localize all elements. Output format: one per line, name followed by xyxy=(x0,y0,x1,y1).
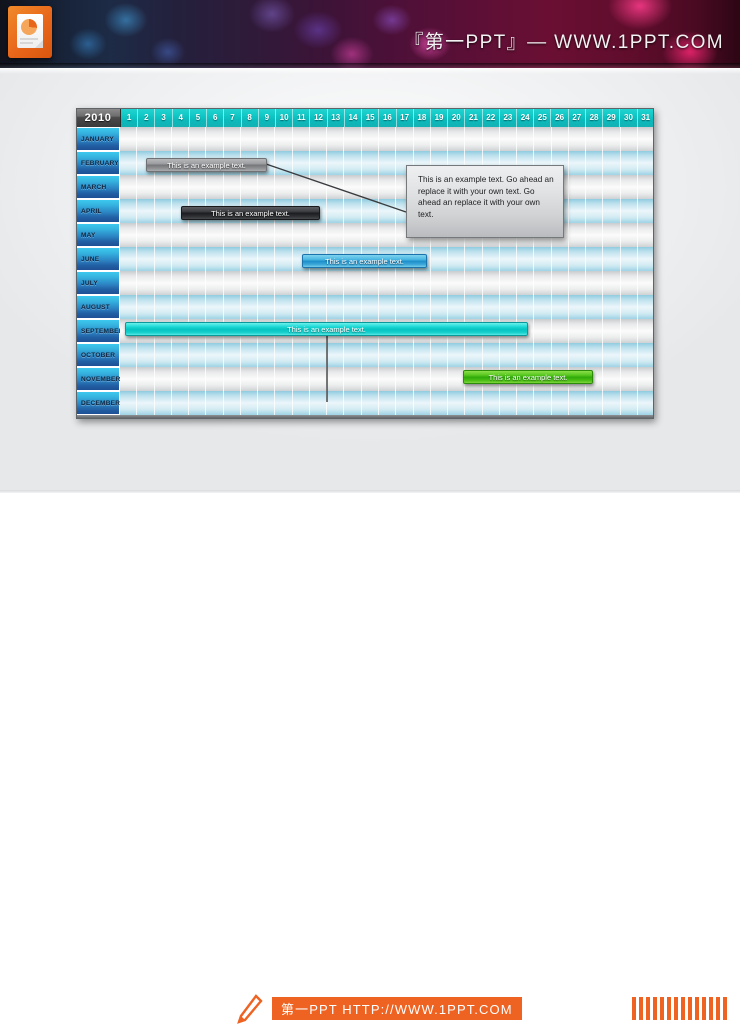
gantt-cell[interactable] xyxy=(603,367,620,391)
gantt-cell[interactable] xyxy=(172,247,189,271)
gantt-cell[interactable] xyxy=(465,295,482,319)
gantt-cell[interactable] xyxy=(603,127,620,151)
gantt-month-label[interactable]: APRIL xyxy=(76,199,120,223)
gantt-cell[interactable] xyxy=(379,175,396,199)
gantt-cell[interactable] xyxy=(638,295,654,319)
gantt-cell[interactable] xyxy=(327,271,344,295)
gantt-cell[interactable] xyxy=(396,127,413,151)
gantt-task-bar[interactable]: This is an example text. xyxy=(463,370,593,384)
gantt-cell[interactable] xyxy=(206,247,223,271)
gantt-cell[interactable] xyxy=(362,343,379,367)
gantt-cell[interactable] xyxy=(137,127,154,151)
gantt-cell[interactable] xyxy=(517,271,534,295)
gantt-cell[interactable] xyxy=(206,391,223,415)
gantt-cell[interactable] xyxy=(534,391,551,415)
gantt-month-label[interactable]: JANUARY xyxy=(76,127,120,151)
gantt-month-label[interactable]: JULY xyxy=(76,271,120,295)
gantt-cell[interactable] xyxy=(500,247,517,271)
gantt-cell[interactable] xyxy=(206,223,223,247)
gantt-cell[interactable] xyxy=(534,343,551,367)
gantt-cell[interactable] xyxy=(258,367,275,391)
gantt-cell[interactable] xyxy=(310,343,327,367)
gantt-cell[interactable] xyxy=(275,343,292,367)
gantt-cell[interactable] xyxy=(310,223,327,247)
gantt-cell[interactable] xyxy=(189,367,206,391)
gantt-cell[interactable] xyxy=(465,271,482,295)
gantt-cell[interactable] xyxy=(396,391,413,415)
gantt-cell[interactable] xyxy=(155,247,172,271)
gantt-cell[interactable] xyxy=(120,295,137,319)
gantt-cell[interactable] xyxy=(327,175,344,199)
gantt-month-label[interactable]: SEPTEMBER xyxy=(76,319,120,343)
gantt-cell[interactable] xyxy=(414,127,431,151)
gantt-cell[interactable] xyxy=(569,175,586,199)
gantt-cell[interactable] xyxy=(189,391,206,415)
gantt-cell[interactable] xyxy=(155,127,172,151)
gantt-cell[interactable] xyxy=(552,127,569,151)
gantt-month-label[interactable]: MARCH xyxy=(76,175,120,199)
gantt-cell[interactable] xyxy=(344,223,361,247)
gantt-cell[interactable] xyxy=(344,199,361,223)
gantt-month-label[interactable]: JUNE xyxy=(76,247,120,271)
gantt-cell[interactable] xyxy=(241,271,258,295)
gantt-cell[interactable] xyxy=(155,343,172,367)
gantt-cell[interactable] xyxy=(483,247,500,271)
gantt-cell[interactable] xyxy=(569,223,586,247)
gantt-cell[interactable] xyxy=(155,223,172,247)
gantt-cell[interactable] xyxy=(241,175,258,199)
gantt-cell[interactable] xyxy=(172,295,189,319)
gantt-cell[interactable] xyxy=(483,127,500,151)
gantt-cell[interactable] xyxy=(224,223,241,247)
gantt-cell[interactable] xyxy=(327,199,344,223)
gantt-cell[interactable] xyxy=(362,367,379,391)
gantt-row-grid xyxy=(120,127,654,151)
gantt-cell[interactable] xyxy=(293,151,310,175)
gantt-cell[interactable] xyxy=(137,391,154,415)
gantt-cell[interactable] xyxy=(638,271,654,295)
gantt-cell[interactable] xyxy=(189,223,206,247)
gantt-cell[interactable] xyxy=(621,151,638,175)
gantt-cell[interactable] xyxy=(344,127,361,151)
gantt-cell[interactable] xyxy=(465,343,482,367)
gantt-cell[interactable] xyxy=(448,295,465,319)
gantt-cell[interactable] xyxy=(172,223,189,247)
gantt-cell[interactable] xyxy=(465,127,482,151)
gantt-cell[interactable] xyxy=(379,343,396,367)
gantt-cell[interactable] xyxy=(638,247,654,271)
gantt-cell[interactable] xyxy=(344,367,361,391)
gantt-month-row: JANUARY xyxy=(76,127,654,151)
gantt-cell[interactable] xyxy=(621,223,638,247)
gantt-cell[interactable] xyxy=(414,295,431,319)
gantt-cell[interactable] xyxy=(310,151,327,175)
gantt-cell[interactable] xyxy=(258,247,275,271)
gantt-cell[interactable] xyxy=(448,271,465,295)
gantt-cell[interactable] xyxy=(120,271,137,295)
gantt-cell[interactable] xyxy=(206,127,223,151)
gantt-cell[interactable] xyxy=(137,367,154,391)
gantt-cell[interactable] xyxy=(206,175,223,199)
gantt-cell[interactable] xyxy=(293,391,310,415)
gantt-cell[interactable] xyxy=(552,391,569,415)
gantt-cell[interactable] xyxy=(569,295,586,319)
gantt-cell[interactable] xyxy=(206,271,223,295)
gantt-cell[interactable] xyxy=(120,175,137,199)
gantt-cell[interactable] xyxy=(552,247,569,271)
gantt-cell[interactable] xyxy=(534,295,551,319)
gantt-cell[interactable] xyxy=(310,271,327,295)
gantt-cell[interactable] xyxy=(517,247,534,271)
gantt-cell[interactable] xyxy=(189,295,206,319)
gantt-cell[interactable] xyxy=(621,367,638,391)
gantt-cell[interactable] xyxy=(534,127,551,151)
gantt-cell[interactable] xyxy=(603,295,620,319)
gantt-cell[interactable] xyxy=(362,127,379,151)
gantt-cell[interactable] xyxy=(327,391,344,415)
gantt-cell[interactable] xyxy=(603,319,620,343)
gantt-cell[interactable] xyxy=(241,367,258,391)
gantt-cell[interactable] xyxy=(586,127,603,151)
gantt-cell[interactable] xyxy=(603,391,620,415)
gantt-cell[interactable] xyxy=(362,223,379,247)
gantt-cell[interactable] xyxy=(241,247,258,271)
gantt-cell[interactable] xyxy=(344,151,361,175)
gantt-cell[interactable] xyxy=(517,295,534,319)
gantt-cell[interactable] xyxy=(621,391,638,415)
gantt-cell[interactable] xyxy=(327,343,344,367)
gantt-month-label[interactable]: AUGUST xyxy=(76,295,120,319)
gantt-cell[interactable] xyxy=(327,127,344,151)
gantt-cell[interactable] xyxy=(414,343,431,367)
gantt-cell[interactable] xyxy=(310,391,327,415)
gantt-cell[interactable] xyxy=(483,271,500,295)
gantt-cell[interactable] xyxy=(293,175,310,199)
gantt-task-bar[interactable]: This is an example text. xyxy=(146,158,267,172)
gantt-cell[interactable] xyxy=(379,271,396,295)
gantt-cell[interactable] xyxy=(120,127,137,151)
gantt-cell[interactable] xyxy=(569,271,586,295)
gantt-cell[interactable] xyxy=(362,151,379,175)
gantt-cell[interactable] xyxy=(621,247,638,271)
gantt-cell[interactable] xyxy=(155,175,172,199)
bottom-banner-brand: 第一PPT HTTP://WWW.1PPT.COM xyxy=(272,997,522,1020)
gantt-cell[interactable] xyxy=(258,223,275,247)
gantt-cell[interactable] xyxy=(586,175,603,199)
gantt-cell[interactable] xyxy=(465,391,482,415)
gantt-cell[interactable] xyxy=(310,127,327,151)
gantt-cell[interactable] xyxy=(120,199,137,223)
gantt-cell[interactable] xyxy=(344,271,361,295)
gantt-cell[interactable] xyxy=(569,319,586,343)
gantt-cell[interactable] xyxy=(414,271,431,295)
gantt-cell[interactable] xyxy=(258,175,275,199)
gantt-cell[interactable] xyxy=(344,175,361,199)
gantt-task-bar[interactable]: This is an example text. xyxy=(302,254,427,268)
gantt-cell[interactable] xyxy=(189,343,206,367)
gantt-cell[interactable] xyxy=(362,391,379,415)
gantt-cell[interactable] xyxy=(120,343,137,367)
gantt-cell[interactable] xyxy=(603,247,620,271)
gantt-cell[interactable] xyxy=(241,223,258,247)
gantt-cell[interactable] xyxy=(293,295,310,319)
gantt-cell[interactable] xyxy=(379,367,396,391)
gantt-cell[interactable] xyxy=(396,367,413,391)
gantt-cell[interactable] xyxy=(258,271,275,295)
gantt-cell[interactable] xyxy=(293,271,310,295)
gantt-cell[interactable] xyxy=(517,127,534,151)
gantt-cell[interactable] xyxy=(172,175,189,199)
gantt-cell[interactable] xyxy=(603,343,620,367)
gantt-month-label[interactable]: MAY xyxy=(76,223,120,247)
gantt-cell[interactable] xyxy=(586,223,603,247)
gantt-cell[interactable] xyxy=(379,295,396,319)
gantt-cell[interactable] xyxy=(275,175,292,199)
gantt-cell[interactable] xyxy=(638,343,654,367)
gantt-cell[interactable] xyxy=(224,367,241,391)
gantt-cell[interactable] xyxy=(500,391,517,415)
gantt-cell[interactable] xyxy=(569,391,586,415)
gantt-cell[interactable] xyxy=(569,199,586,223)
gantt-month-label[interactable]: NOVEMBER xyxy=(76,367,120,391)
gantt-cell[interactable] xyxy=(362,199,379,223)
gantt-cell[interactable] xyxy=(189,247,206,271)
gantt-cell[interactable] xyxy=(258,343,275,367)
gantt-cell[interactable] xyxy=(448,127,465,151)
gantt-cell[interactable] xyxy=(621,295,638,319)
gantt-cell[interactable] xyxy=(258,127,275,151)
gantt-cell[interactable] xyxy=(396,271,413,295)
gantt-cell[interactable] xyxy=(621,199,638,223)
gantt-cell[interactable] xyxy=(586,199,603,223)
gantt-cell[interactable] xyxy=(137,271,154,295)
gantt-cell[interactable] xyxy=(310,175,327,199)
gantt-cell[interactable] xyxy=(534,319,551,343)
callout-textbox[interactable]: This is an example text. Go ahead an rep… xyxy=(406,165,564,238)
gantt-cell[interactable] xyxy=(500,295,517,319)
gantt-cell[interactable] xyxy=(224,271,241,295)
gantt-cell[interactable] xyxy=(189,175,206,199)
gantt-cell[interactable] xyxy=(189,271,206,295)
gantt-task-bar[interactable]: This is an example text. xyxy=(125,322,528,336)
gantt-cell[interactable] xyxy=(293,127,310,151)
gantt-cell[interactable] xyxy=(224,295,241,319)
gantt-cell[interactable] xyxy=(621,343,638,367)
gantt-cell[interactable] xyxy=(414,391,431,415)
gantt-cell[interactable] xyxy=(137,199,154,223)
gantt-cell[interactable] xyxy=(483,343,500,367)
gantt-cell[interactable] xyxy=(275,151,292,175)
gantt-cell[interactable] xyxy=(621,271,638,295)
gantt-cell[interactable] xyxy=(206,367,223,391)
gantt-cell[interactable] xyxy=(431,127,448,151)
gantt-cell[interactable] xyxy=(379,391,396,415)
gantt-cell[interactable] xyxy=(344,343,361,367)
gantt-cell[interactable] xyxy=(137,295,154,319)
gantt-day-header: 9 xyxy=(259,108,276,127)
gantt-cell[interactable] xyxy=(448,247,465,271)
gantt-cell[interactable] xyxy=(137,247,154,271)
gantt-cell[interactable] xyxy=(275,271,292,295)
gantt-cell[interactable] xyxy=(379,151,396,175)
gantt-cell[interactable] xyxy=(344,295,361,319)
gantt-cell[interactable] xyxy=(275,247,292,271)
gantt-cell[interactable] xyxy=(431,343,448,367)
gantt-cell[interactable] xyxy=(483,295,500,319)
gantt-cell[interactable] xyxy=(258,391,275,415)
gantt-cell[interactable] xyxy=(603,199,620,223)
gantt-cell[interactable] xyxy=(431,367,448,391)
gantt-cell[interactable] xyxy=(172,127,189,151)
gantt-cell[interactable] xyxy=(155,391,172,415)
gantt-cell[interactable] xyxy=(396,343,413,367)
gantt-cell[interactable] xyxy=(155,271,172,295)
gantt-cell[interactable] xyxy=(362,295,379,319)
gantt-cell[interactable] xyxy=(206,295,223,319)
gantt-cell[interactable] xyxy=(448,343,465,367)
gantt-cell[interactable] xyxy=(569,343,586,367)
gantt-cell[interactable] xyxy=(638,367,654,391)
gantt-cell[interactable] xyxy=(638,319,654,343)
gantt-cell[interactable] xyxy=(638,199,654,223)
gantt-cell[interactable] xyxy=(552,295,569,319)
gantt-cell[interactable] xyxy=(137,175,154,199)
gantt-cell[interactable] xyxy=(586,391,603,415)
gantt-cell[interactable] xyxy=(172,391,189,415)
gantt-cell[interactable] xyxy=(189,127,206,151)
gantt-cell[interactable] xyxy=(275,295,292,319)
gantt-cell[interactable] xyxy=(344,391,361,415)
gantt-cell[interactable] xyxy=(293,343,310,367)
gantt-cell[interactable] xyxy=(569,151,586,175)
gantt-cell[interactable] xyxy=(120,391,137,415)
gantt-cell[interactable] xyxy=(431,247,448,271)
gantt-cell[interactable] xyxy=(120,247,137,271)
gantt-cell[interactable] xyxy=(224,247,241,271)
gantt-cell[interactable] xyxy=(431,271,448,295)
gantt-cell[interactable] xyxy=(517,343,534,367)
gantt-cell[interactable] xyxy=(517,391,534,415)
gantt-cell[interactable] xyxy=(569,127,586,151)
gantt-cell[interactable] xyxy=(327,367,344,391)
gantt-cell[interactable] xyxy=(586,295,603,319)
gantt-cell[interactable] xyxy=(224,127,241,151)
gantt-cell[interactable] xyxy=(569,247,586,271)
bottom-banner-stripe xyxy=(695,997,699,1020)
gantt-cell[interactable] xyxy=(241,391,258,415)
gantt-cell[interactable] xyxy=(638,391,654,415)
gantt-cell[interactable] xyxy=(224,343,241,367)
gantt-cell[interactable] xyxy=(552,343,569,367)
gantt-cell[interactable] xyxy=(275,223,292,247)
gantt-task-bar[interactable]: This is an example text. xyxy=(181,206,320,220)
gantt-cell[interactable] xyxy=(603,175,620,199)
gantt-cell[interactable] xyxy=(120,151,137,175)
gantt-cell[interactable] xyxy=(258,295,275,319)
gantt-cell[interactable] xyxy=(603,271,620,295)
gantt-cell[interactable] xyxy=(275,391,292,415)
gantt-cell[interactable] xyxy=(293,223,310,247)
gantt-cell[interactable] xyxy=(534,247,551,271)
gantt-cell[interactable] xyxy=(621,127,638,151)
gantt-cell[interactable] xyxy=(586,319,603,343)
gantt-cell[interactable] xyxy=(586,151,603,175)
gantt-cell[interactable] xyxy=(621,175,638,199)
gantt-cell[interactable] xyxy=(396,295,413,319)
gantt-cell[interactable] xyxy=(120,223,137,247)
gantt-cell[interactable] xyxy=(206,343,223,367)
gantt-cell[interactable] xyxy=(552,319,569,343)
gantt-cell[interactable] xyxy=(586,271,603,295)
gantt-cell[interactable] xyxy=(431,391,448,415)
gantt-cell[interactable] xyxy=(241,127,258,151)
gantt-cell[interactable] xyxy=(500,271,517,295)
gantt-cell[interactable] xyxy=(137,223,154,247)
gantt-cell[interactable] xyxy=(638,151,654,175)
gantt-cell[interactable] xyxy=(379,223,396,247)
gantt-cell[interactable] xyxy=(327,151,344,175)
gantt-cell[interactable] xyxy=(362,271,379,295)
gantt-cell[interactable] xyxy=(224,391,241,415)
gantt-cell[interactable] xyxy=(327,295,344,319)
gantt-month-label[interactable]: OCTOBER xyxy=(76,343,120,367)
gantt-cell[interactable] xyxy=(603,223,620,247)
gantt-cell[interactable] xyxy=(586,247,603,271)
gantt-cell[interactable] xyxy=(155,199,172,223)
gantt-cell[interactable] xyxy=(500,127,517,151)
gantt-cell[interactable] xyxy=(638,223,654,247)
gantt-cell[interactable] xyxy=(534,271,551,295)
gantt-cell[interactable] xyxy=(327,223,344,247)
gantt-cell[interactable] xyxy=(448,391,465,415)
gantt-cell[interactable] xyxy=(362,175,379,199)
gantt-month-label[interactable]: FEBRUARY xyxy=(76,151,120,175)
gantt-cell[interactable] xyxy=(310,367,327,391)
gantt-cell[interactable] xyxy=(275,127,292,151)
gantt-cell[interactable] xyxy=(172,367,189,391)
gantt-month-row: JULY xyxy=(76,271,654,295)
gantt-cell[interactable] xyxy=(379,127,396,151)
gantt-month-row: DECEMBER xyxy=(76,391,654,415)
gantt-cell[interactable] xyxy=(431,295,448,319)
bottom-banner-stripe xyxy=(660,997,664,1020)
gantt-cell[interactable] xyxy=(414,367,431,391)
gantt-cell[interactable] xyxy=(293,367,310,391)
gantt-cell[interactable] xyxy=(638,175,654,199)
gantt-cell[interactable] xyxy=(172,343,189,367)
gantt-cell[interactable] xyxy=(603,151,620,175)
gantt-cell[interactable] xyxy=(500,343,517,367)
gantt-cell[interactable] xyxy=(155,295,172,319)
gantt-cell[interactable] xyxy=(172,271,189,295)
gantt-cell[interactable] xyxy=(465,247,482,271)
gantt-cell[interactable] xyxy=(224,175,241,199)
gantt-cell[interactable] xyxy=(120,367,137,391)
gantt-cell[interactable] xyxy=(310,295,327,319)
gantt-cell[interactable] xyxy=(379,199,396,223)
gantt-cell[interactable] xyxy=(137,343,154,367)
gantt-cell[interactable] xyxy=(552,271,569,295)
gantt-cell[interactable] xyxy=(155,367,172,391)
gantt-cell[interactable] xyxy=(241,343,258,367)
gantt-cell[interactable] xyxy=(275,367,292,391)
gantt-cell[interactable] xyxy=(586,343,603,367)
gantt-month-label[interactable]: DECEMBER xyxy=(76,391,120,415)
gantt-cell[interactable] xyxy=(638,127,654,151)
gantt-cell[interactable] xyxy=(483,391,500,415)
gantt-cell[interactable] xyxy=(241,295,258,319)
gantt-cell[interactable] xyxy=(621,319,638,343)
